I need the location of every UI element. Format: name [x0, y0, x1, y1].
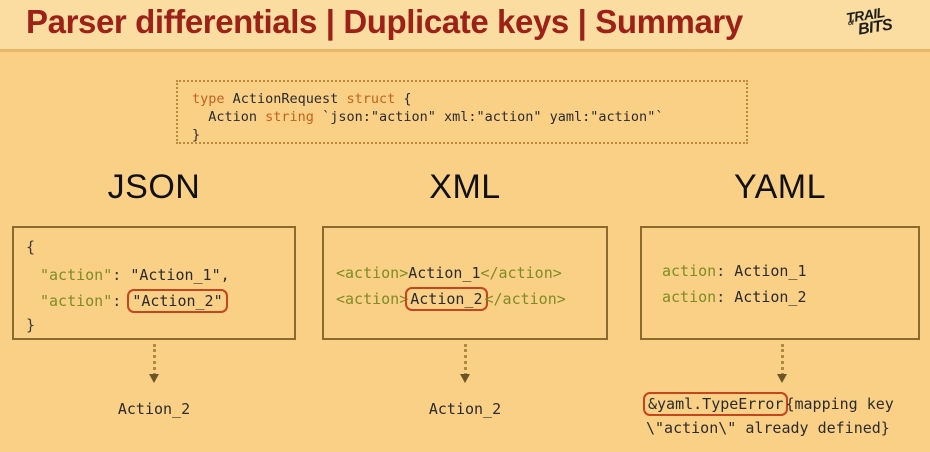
xml-line-action-2: <action>Action_2</action> [336, 290, 566, 308]
yaml-key-1: action [662, 262, 716, 280]
json-key-2: "action" [40, 292, 112, 310]
json-line-action-2: "action": "Action_2" [40, 292, 225, 310]
xml-line-action-1: <action>Action_1</action> [336, 264, 562, 282]
column-title-json: JSON [12, 168, 296, 207]
xml-open-tag-1: <action> [336, 264, 408, 282]
yaml-value-1: Action_1 [734, 262, 806, 280]
yaml-error-rest: {mapping key [785, 395, 893, 413]
go-struct-code-panel: type ActionRequest struct { Action strin… [176, 80, 748, 144]
json-output-value: Action_2 [12, 400, 296, 418]
xml-close-tag-2: </action> [485, 290, 566, 308]
arrow-head-icon [777, 374, 787, 383]
json-sep-1: : [112, 266, 130, 284]
yaml-value-2: Action_2 [734, 288, 806, 306]
yaml-key-2: action [662, 288, 716, 306]
arrow-yaml-to-output [777, 344, 787, 388]
arrow-head-icon [149, 374, 159, 383]
go-close-brace: } [192, 127, 200, 143]
xml-code-box: <action>Action_1</action> <action>Action… [322, 226, 608, 340]
json-key-1: "action" [40, 266, 112, 284]
go-struct-name: ActionRequest [225, 91, 347, 107]
yaml-error-type-highlight: &yaml.TypeError [643, 392, 788, 416]
go-open-brace: { [395, 91, 411, 107]
yaml-sep-2: : [716, 288, 734, 306]
json-value-2-highlight: "Action_2" [127, 289, 227, 313]
page-title: Parser differentials | Duplicate keys | … [26, 3, 743, 41]
json-code-box: { "action": "Action_1", "action": "Actio… [12, 226, 296, 340]
yaml-sep-1: : [716, 262, 734, 280]
yaml-output-error: &yaml.TypeError{mapping key\"action\" al… [646, 392, 930, 440]
json-line-action-1: "action": "Action_1", [40, 266, 230, 284]
arrow-head-icon [460, 374, 470, 383]
go-field-name: Action [208, 109, 265, 125]
go-struct-tag: `json:"action" xml:"action" yaml:"action… [314, 109, 664, 125]
yaml-code-box: action: Action_1 action: Action_2 [640, 226, 920, 340]
yaml-line-action-1: action: Action_1 [662, 262, 807, 280]
go-field-type: string [265, 109, 314, 125]
json-value-1: "Action_1", [130, 266, 229, 284]
go-struct-line-1: type ActionRequest struct { [192, 90, 746, 108]
json-close-brace: } [26, 316, 35, 334]
xml-open-tag-2: <action> [336, 290, 408, 308]
yaml-error-line-2: \"action\" already defined} [646, 419, 890, 437]
logo-text-bits: BITS [857, 16, 894, 39]
go-keyword-struct: struct [346, 91, 395, 107]
xml-value-1: Action_1 [408, 264, 480, 282]
arrow-stem [153, 344, 156, 376]
slide-header: Parser differentials | Duplicate keys | … [0, 0, 930, 52]
xml-close-tag-1: </action> [481, 264, 562, 282]
arrow-xml-to-output [460, 344, 470, 388]
json-open-brace: { [26, 238, 35, 256]
go-struct-line-2: Action string `json:"action" xml:"action… [192, 108, 746, 126]
yaml-line-action-2: action: Action_2 [662, 288, 807, 306]
logo-text-of: of [847, 20, 854, 28]
slide: Parser differentials | Duplicate keys | … [0, 0, 930, 452]
xml-value-2-highlight: Action_2 [405, 287, 487, 311]
column-title-yaml: YAML [640, 168, 920, 207]
go-keyword-type: type [192, 91, 225, 107]
xml-output-value: Action_2 [322, 400, 608, 418]
arrow-json-to-output [149, 344, 159, 388]
go-struct-line-3: } [192, 126, 746, 144]
column-title-xml: XML [322, 168, 608, 207]
go-indent [192, 109, 208, 125]
arrow-stem [464, 344, 467, 376]
arrow-stem [781, 344, 784, 376]
trail-of-bits-logo: TRAIL of BITS [834, 5, 914, 45]
